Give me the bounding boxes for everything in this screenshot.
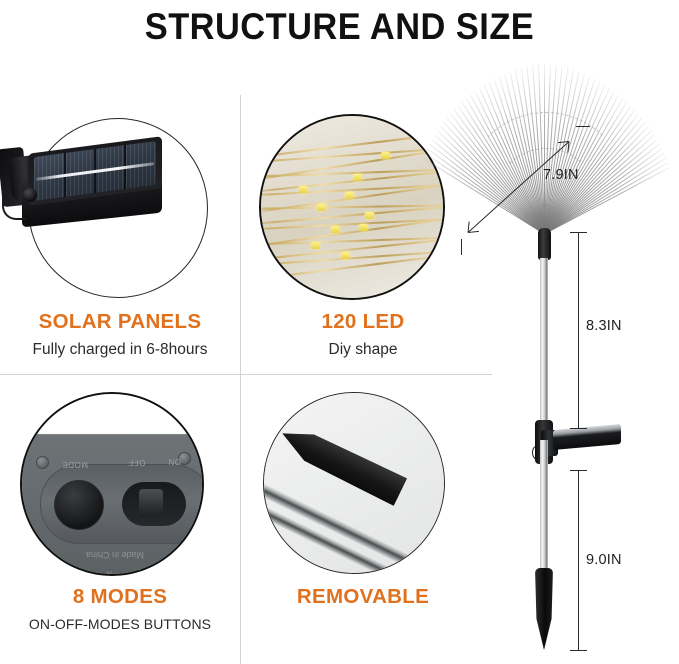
dimension-label: 9.0IN	[586, 552, 622, 568]
pole-lower-rod	[540, 440, 548, 575]
power-cable	[2, 196, 26, 220]
power-switch-knob[interactable]	[139, 489, 163, 517]
led-chip	[359, 224, 368, 231]
photo-circle-frame: MODE OFF ON Made in China ▽ ☓ CE Batteri…	[20, 392, 204, 576]
feature-subtitle: Fully charged in 6-8hours	[0, 342, 240, 358]
off-label: OFF	[128, 458, 146, 467]
feature-title: SOLAR PANELS	[0, 312, 240, 333]
led-chip	[341, 252, 350, 259]
solar-panel-photo	[0, 100, 240, 312]
on-label: ON	[168, 457, 181, 466]
led-chip	[353, 174, 362, 181]
button-panel-illustration: MODE OFF ON Made in China ▽ ☓ CE Batteri…	[22, 394, 202, 574]
ce-mark-icon: CE	[138, 566, 156, 576]
led-chip	[345, 192, 354, 199]
fan-base-collar	[538, 228, 551, 260]
divider-vertical-center	[240, 95, 241, 664]
ground-stake-tip	[535, 568, 553, 650]
triangle-mark-icon: ▽	[70, 566, 80, 576]
button-panel-photo: MODE OFF ON Made in China ▽ ☓ CE Batteri…	[0, 382, 240, 587]
feature-subtitle: ON-OFF-MODES BUTTONS	[0, 617, 240, 631]
led-chip	[299, 186, 308, 193]
made-in-text: Made in China	[86, 550, 144, 560]
feature-modes: MODE OFF ON Made in China ▽ ☓ CE Batteri…	[0, 382, 240, 631]
led-chip	[317, 204, 326, 211]
dimension-label: 8.3IN	[586, 318, 622, 334]
pole-upper-rod	[540, 258, 548, 423]
led-chip	[311, 242, 320, 249]
feature-title: 8 MODES	[0, 587, 240, 608]
screw-icon	[36, 456, 49, 469]
led-chip	[365, 212, 374, 219]
dimension-label: 7.9IN	[543, 167, 579, 183]
solar-panel-illustration	[0, 100, 240, 312]
led-chip	[381, 152, 390, 159]
led-chip	[331, 226, 340, 233]
feature-solar-panels: SOLAR PANELS Fully charged in 6-8hours	[0, 100, 240, 357]
solar-panel-module	[553, 424, 621, 450]
weee-bin-icon: ☓	[106, 566, 113, 576]
infographic-page: STRUCTURE AND SIZE SOLAR PANELS	[0, 0, 679, 664]
mode-label: MODE	[62, 460, 88, 469]
stake-point-tip	[275, 419, 409, 507]
product-illustration: 7.9IN 8.3IN 9.0IN	[410, 40, 679, 664]
mode-button[interactable]	[54, 480, 104, 530]
